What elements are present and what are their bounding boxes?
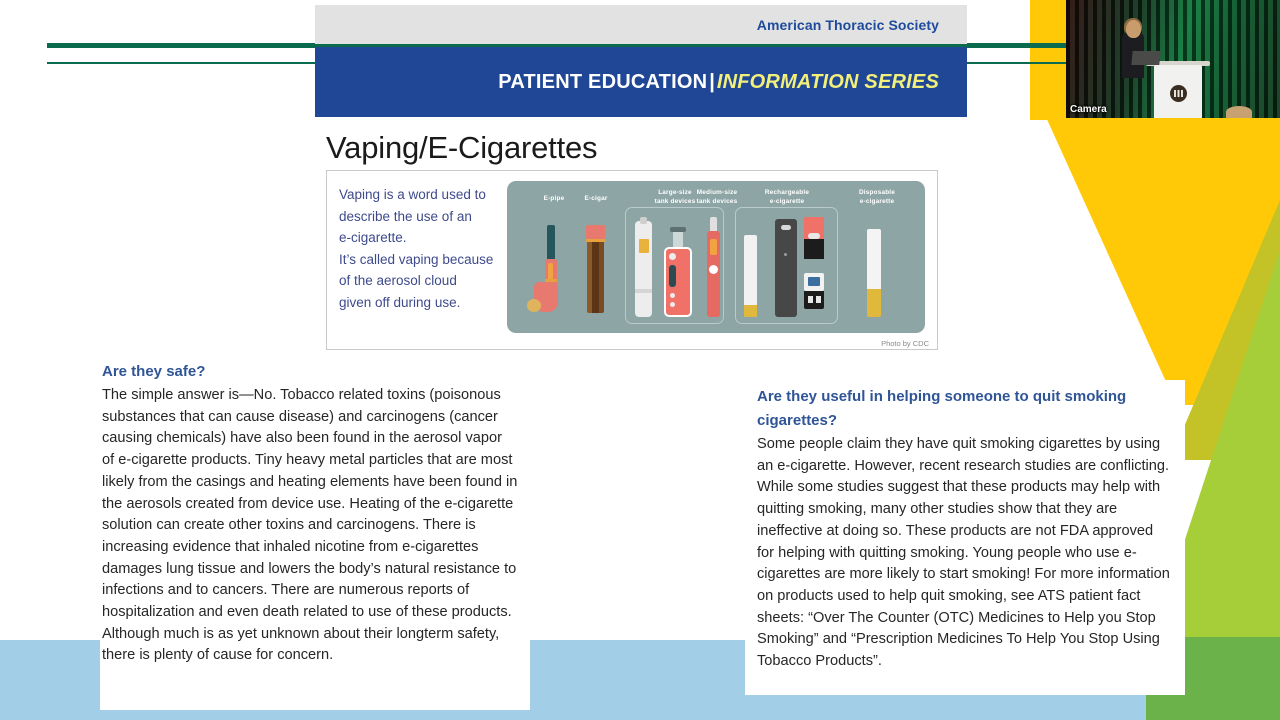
series-banner: PATIENT EDUCATION|INFORMATION SERIES [498, 71, 967, 94]
header-gray-band: American Thoracic Society [315, 5, 967, 44]
series-divider: | [707, 71, 717, 93]
info-line-2: describe the use of an [339, 206, 514, 228]
info-line-6: given off during use. [339, 292, 514, 314]
label-ecigar: E-cigar [573, 195, 619, 204]
vaping-devices-illustration: E-pipe E-cigar Large-sizetank devices Me… [507, 181, 925, 333]
camera-video-tile[interactable]: Camera [1066, 0, 1280, 118]
speaker-head [1126, 20, 1141, 38]
header-blue-band: PATIENT EDUCATION|INFORMATION SERIES [315, 47, 967, 117]
info-line-4: It’s called vaping because [339, 249, 514, 271]
info-line-3: e-cigarette. [339, 227, 514, 249]
section-body-are-they-safe: The simple answer is—No. Tobacco related… [102, 385, 518, 667]
section-are-they-useful: Are they useful in helping someone to qu… [745, 380, 1185, 695]
info-box-text: Vaping is a word used to describe the us… [339, 184, 514, 313]
label-disposable: Disposablee-cigarette [835, 189, 919, 206]
patient-education-label: PATIENT EDUCATION [498, 71, 707, 93]
info-box: Vaping is a word used to describe the us… [326, 170, 938, 350]
label-rechargeable: Rechargeablee-cigarette [741, 189, 833, 206]
label-epipe: E-pipe [531, 195, 577, 204]
camera-label: Camera [1070, 104, 1107, 115]
info-line-1: Vaping is a word used to [339, 184, 514, 206]
section-heading-are-they-useful: Are they useful in helping someone to qu… [757, 385, 1171, 433]
section-are-they-safe: Are they safe? The simple answer is—No. … [100, 355, 530, 710]
podium-logo-icon [1170, 85, 1187, 102]
section-heading-are-they-safe: Are they safe? [102, 360, 518, 384]
laptop-icon [1131, 51, 1160, 65]
info-line-5: of the aerosol cloud [339, 270, 514, 292]
audience-head [1226, 106, 1252, 118]
society-name: American Thoracic Society [757, 17, 967, 33]
photo-credit: Photo by CDC [881, 339, 929, 348]
information-series-label: INFORMATION SERIES [717, 71, 939, 93]
page-title: Vaping/E-Cigarettes [326, 130, 597, 166]
section-body-are-they-useful: Some people claim they have quit smoking… [757, 434, 1171, 673]
